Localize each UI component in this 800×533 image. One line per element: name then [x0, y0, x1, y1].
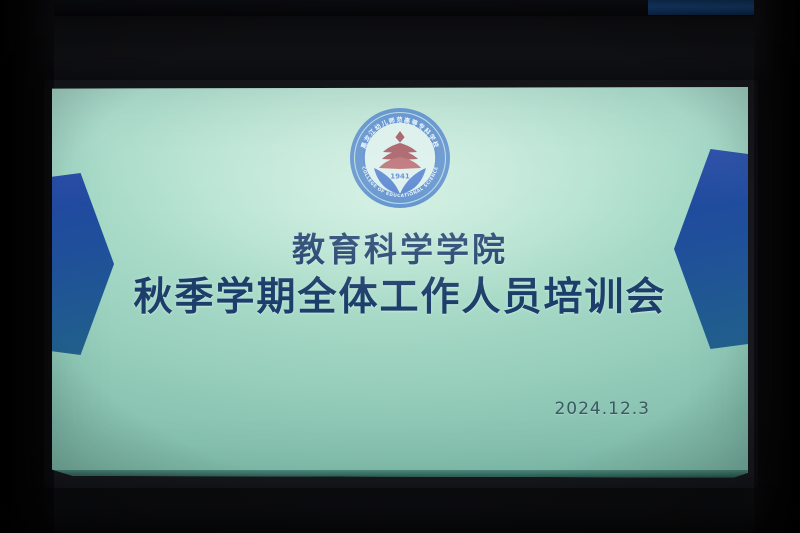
university-emblem: 黑龙江幼儿师范高等专科学校 COLLEGE OF EDUCATIONAL SCI… [348, 106, 452, 210]
page-title: 教育科学学院 [52, 229, 748, 271]
floor-shadow [0, 475, 800, 533]
slide-title-block: 教育科学学院 秋季学期全体工作人员培训会 [52, 229, 748, 324]
slide-date: 2024.12.3 [554, 399, 650, 419]
wall-right-pillar [754, 0, 800, 533]
projection-screen: 黑龙江幼儿师范高等专科学校 COLLEGE OF EDUCATIONAL SCI… [52, 87, 748, 479]
svg-text:1941: 1941 [390, 173, 410, 181]
page-subtitle: 秋季学期全体工作人员培训会 [52, 273, 748, 324]
conference-room-scene: 黑龙江幼儿师范高等专科学校 COLLEGE OF EDUCATIONAL SCI… [0, 0, 800, 533]
